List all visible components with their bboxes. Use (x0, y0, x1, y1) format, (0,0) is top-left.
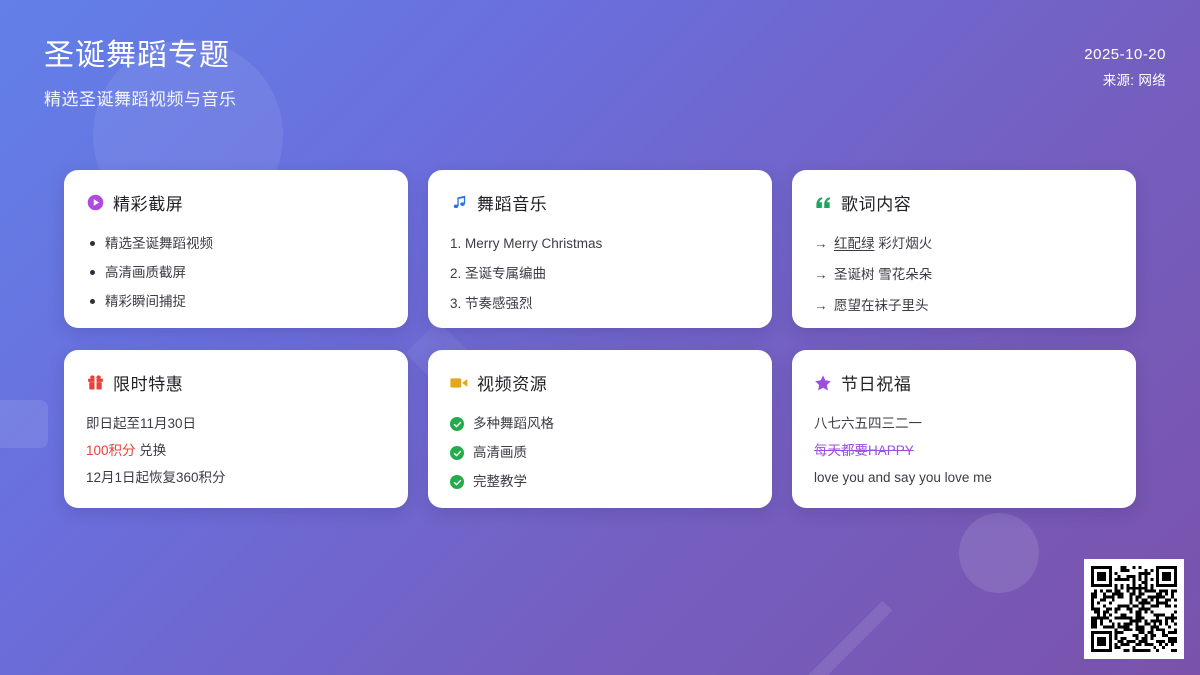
decorative-diagonal-stripe (798, 601, 893, 675)
list-item-label: 完整教学 (473, 472, 527, 493)
card-body: 精选圣诞舞蹈视频高清画质截屏精彩瞬间捕捉 (86, 234, 386, 321)
list-item: 精彩瞬间捕捉 (86, 292, 386, 313)
check-circle-icon (450, 446, 464, 460)
list-item: 圣诞专属编曲 (450, 264, 750, 285)
card-list: 八七六五四三二一每天都要HAPPYlove you and say you lo… (814, 414, 1114, 489)
card-title: 视频资源 (477, 370, 547, 395)
card-title: 精彩截屏 (113, 190, 183, 215)
card-header: 歌词内容 (814, 190, 1114, 222)
list-item: 即日起至11月30日 (86, 414, 386, 435)
page-subtitle: 精选圣诞舞蹈视频与音乐 (44, 85, 237, 110)
card-list: 红配绿 彩灯烟火圣诞树 雪花朵朵愿望在袜子里头 (814, 234, 1114, 317)
video-camera-icon (450, 374, 468, 392)
qr-code-image (1091, 566, 1177, 652)
list-item: 节奏感强烈 (450, 294, 750, 315)
page-title: 圣诞舞蹈专题 (44, 36, 237, 75)
card-header: 视频资源 (450, 370, 750, 402)
card-title: 舞蹈音乐 (477, 190, 547, 215)
card-list: Merry Merry Christmas圣诞专属编曲节奏感强烈 (450, 234, 750, 315)
card-title: 节日祝福 (841, 370, 911, 395)
list-item: 完整教学 (450, 472, 750, 493)
list-item: 高清画质截屏 (86, 263, 386, 284)
list-item: 每天都要HAPPY (814, 441, 1114, 462)
emphasis-text: 红配绿 (834, 236, 875, 251)
card-holiday-greetings[interactable]: 节日祝福八七六五四三二一每天都要HAPPYlove you and say yo… (792, 350, 1136, 508)
list-item: 圣诞树 雪花朵朵 (814, 265, 1114, 286)
decorative-rect-left (0, 400, 48, 448)
header-source: 来源: 网络 (1084, 69, 1166, 89)
card-list: 精选圣诞舞蹈视频高清画质截屏精彩瞬间捕捉 (86, 234, 386, 313)
list-item: 100积分 兑换 (86, 441, 386, 462)
header-date: 2025-10-20 (1084, 46, 1166, 63)
card-list: 多种舞蹈风格高清画质完整教学 (450, 414, 750, 493)
header-meta: 2025-10-20 来源: 网络 (1084, 46, 1166, 89)
quote-icon (814, 194, 832, 212)
card-header: 节日祝福 (814, 370, 1114, 402)
list-item: 八七六五四三二一 (814, 414, 1114, 435)
list-item: love you and say you love me (814, 468, 1114, 489)
star-icon (814, 374, 832, 392)
play-circle-icon (86, 194, 104, 212)
list-item: 红配绿 彩灯烟火 (814, 234, 1114, 255)
header-left: 圣诞舞蹈专题 精选圣诞舞蹈视频与音乐 (44, 36, 237, 110)
emphasis-text: 100积分 (86, 443, 136, 458)
decorative-circle-bottom-right (959, 513, 1039, 593)
card-header: 精彩截屏 (86, 190, 386, 222)
card-highlights[interactable]: 精彩截屏精选圣诞舞蹈视频高清画质截屏精彩瞬间捕捉 (64, 170, 408, 328)
list-item: 精选圣诞舞蹈视频 (86, 234, 386, 255)
card-body: 八七六五四三二一每天都要HAPPYlove you and say you lo… (814, 414, 1114, 495)
card-limited-offer[interactable]: 限时特惠即日起至11月30日100积分 兑换12月1日起恢复360积分 (64, 350, 408, 508)
list-item-label: 高清画质 (473, 443, 527, 464)
card-dance-music[interactable]: 舞蹈音乐Merry Merry Christmas圣诞专属编曲节奏感强烈 (428, 170, 772, 328)
list-item: Merry Merry Christmas (450, 234, 750, 255)
card-lyrics[interactable]: 歌词内容红配绿 彩灯烟火圣诞树 雪花朵朵愿望在袜子里头 (792, 170, 1136, 328)
check-circle-icon (450, 475, 464, 489)
card-body: 红配绿 彩灯烟火圣诞树 雪花朵朵愿望在袜子里头 (814, 234, 1114, 327)
card-list: 即日起至11月30日100积分 兑换12月1日起恢复360积分 (86, 414, 386, 489)
card-title: 歌词内容 (841, 190, 911, 215)
card-video-resources[interactable]: 视频资源多种舞蹈风格高清画质完整教学 (428, 350, 772, 508)
list-item: 愿望在袜子里头 (814, 296, 1114, 317)
list-item-label: 多种舞蹈风格 (473, 414, 554, 435)
emphasis-text: 每天都要HAPPY (814, 443, 914, 458)
check-circle-icon (450, 417, 464, 431)
card-body: 即日起至11月30日100积分 兑换12月1日起恢复360积分 (86, 414, 386, 495)
card-body: 多种舞蹈风格高清画质完整教学 (450, 414, 750, 501)
card-grid: 精彩截屏精选圣诞舞蹈视频高清画质截屏精彩瞬间捕捉舞蹈音乐Merry Merry … (64, 170, 1136, 508)
card-header: 舞蹈音乐 (450, 190, 750, 222)
music-note-icon (450, 194, 468, 212)
card-header: 限时特惠 (86, 370, 386, 402)
card-body: Merry Merry Christmas圣诞专属编曲节奏感强烈 (450, 234, 750, 324)
qr-code[interactable] (1084, 559, 1184, 659)
gift-icon (86, 374, 104, 392)
card-title: 限时特惠 (113, 370, 183, 395)
list-item: 12月1日起恢复360积分 (86, 468, 386, 489)
list-item: 多种舞蹈风格 (450, 414, 750, 435)
page-header: 圣诞舞蹈专题 精选圣诞舞蹈视频与音乐 2025-10-20 来源: 网络 (0, 0, 1200, 150)
list-item: 高清画质 (450, 443, 750, 464)
